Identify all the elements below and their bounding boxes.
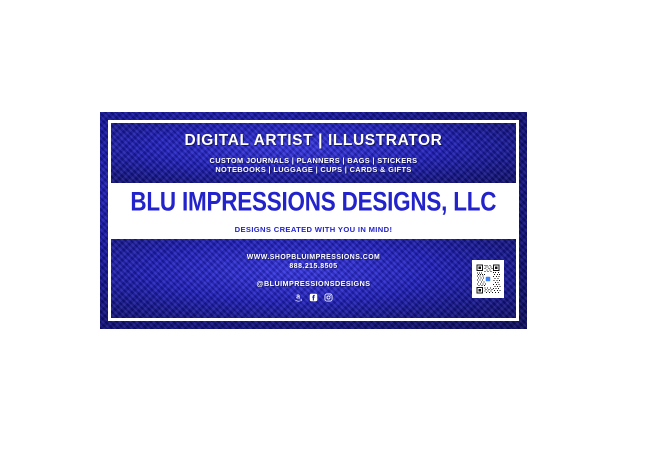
services-line-1: CUSTOM JOURNALS | PLANNERS | BAGS | STIC…: [210, 156, 418, 166]
headline-text: DIGITAL ARTIST | ILLUSTRATOR: [185, 132, 443, 150]
services-line-2: NOTEBOOKS | LUGGAGE | CUPS | CARDS & GIF…: [210, 165, 418, 175]
card-center-band: BLU IMPRESSIONS DESIGNS, LLC DESIGNS CRE…: [111, 183, 516, 239]
business-card: DIGITAL ARTIST | ILLUSTRATOR CUSTOM JOUR…: [100, 112, 527, 329]
facebook-icon[interactable]: [309, 293, 318, 302]
card-inner-frame: DIGITAL ARTIST | ILLUSTRATOR CUSTOM JOUR…: [108, 120, 519, 321]
services-list: CUSTOM JOURNALS | PLANNERS | BAGS | STIC…: [210, 156, 418, 175]
instagram-icon[interactable]: [324, 293, 333, 302]
contact-block: WWW.SHOPBLUIMPRESSIONS.COM 888.215.8505 …: [247, 254, 381, 302]
amazon-icon[interactable]: [294, 293, 303, 302]
phone-number[interactable]: 888.215.8505: [289, 263, 337, 270]
card-footer-band: WWW.SHOPBLUIMPRESSIONS.COM 888.215.8505 …: [111, 239, 516, 318]
social-handle: @BLUIMPRESSIONSDESIGNS: [257, 279, 371, 288]
qr-code-icon[interactable]: [472, 260, 504, 298]
tagline-text: DESIGNS CREATED WITH YOU IN MIND!: [235, 225, 393, 234]
social-icons-row: [294, 293, 333, 302]
card-header-band: DIGITAL ARTIST | ILLUSTRATOR CUSTOM JOUR…: [111, 123, 516, 183]
company-name: BLU IMPRESSIONS DESIGNS, LLC: [131, 186, 497, 218]
website-url[interactable]: WWW.SHOPBLUIMPRESSIONS.COM: [247, 254, 381, 261]
